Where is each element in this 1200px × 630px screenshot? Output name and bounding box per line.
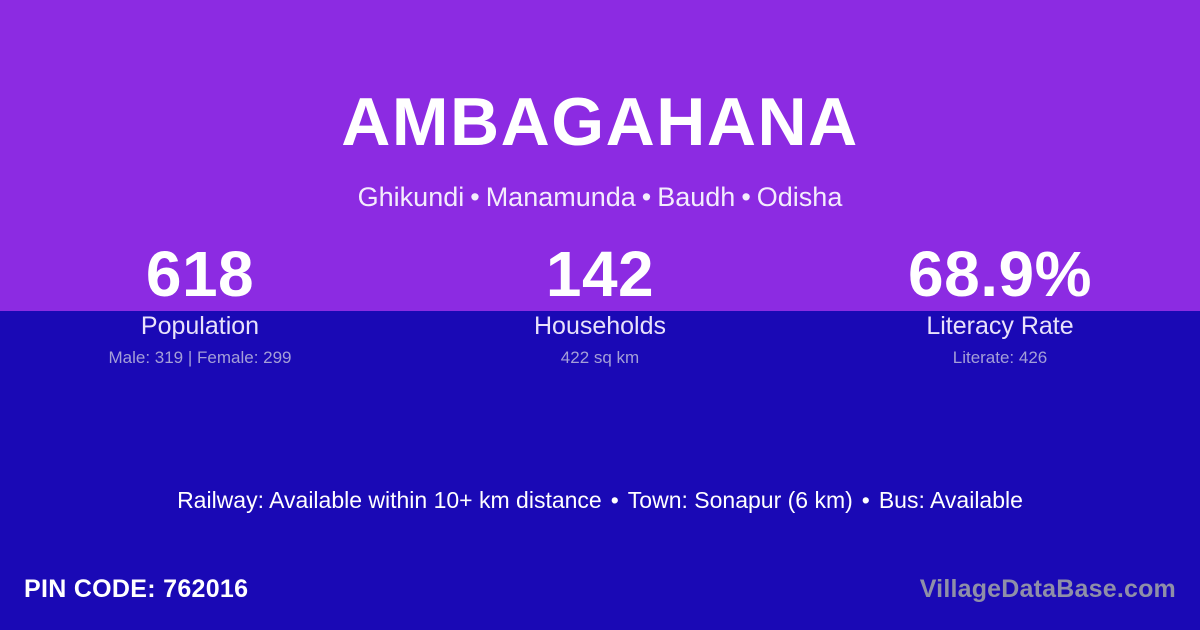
- facility-town: Town: Sonapur (6 km): [628, 487, 853, 513]
- breadcrumb: Ghikundi•Manamunda•Baudh•Odisha: [0, 183, 1200, 213]
- stat-sub-households: 422 sq km: [400, 347, 800, 369]
- page-title: AMBAGAHANA: [0, 88, 1200, 156]
- stat-sub-population: Male: 319 | Female: 299: [0, 347, 400, 369]
- brand-watermark: VillageDataBase.com: [920, 574, 1176, 604]
- stat-value-population: 618: [0, 240, 400, 308]
- breadcrumb-item-state: Odisha: [757, 182, 843, 212]
- village-info-card: AMBAGAHANA Ghikundi•Manamunda•Baudh•Odis…: [0, 0, 1200, 630]
- stat-population: 618 Population Male: 319 | Female: 299: [0, 240, 400, 369]
- stat-label-population: Population: [0, 311, 400, 341]
- breadcrumb-separator-icon: •: [735, 182, 756, 212]
- facility-separator-icon: •: [602, 487, 628, 513]
- facilities-line: Railway: Available within 10+ km distanc…: [0, 484, 1200, 516]
- pin-code-label: PIN CODE: 762016: [24, 574, 248, 604]
- breadcrumb-separator-icon: •: [636, 182, 657, 212]
- breadcrumb-item-village: Ghikundi: [358, 182, 465, 212]
- breadcrumb-item-district: Baudh: [657, 182, 735, 212]
- stat-value-households: 142: [400, 240, 800, 308]
- facility-railway: Railway: Available within 10+ km distanc…: [177, 487, 602, 513]
- stats-row: 618 Population Male: 319 | Female: 299 1…: [0, 240, 1200, 369]
- breadcrumb-item-block: Manamunda: [486, 182, 636, 212]
- stat-label-literacy-rate: Literacy Rate: [800, 311, 1200, 341]
- stat-households: 142 Households 422 sq km: [400, 240, 800, 369]
- stat-literacy-rate: 68.9% Literacy Rate Literate: 426: [800, 240, 1200, 369]
- stat-label-households: Households: [400, 311, 800, 341]
- breadcrumb-separator-icon: •: [464, 182, 485, 212]
- facility-bus: Bus: Available: [879, 487, 1023, 513]
- footer: PIN CODE: 762016 VillageDataBase.com: [0, 560, 1200, 630]
- stat-value-literacy-rate: 68.9%: [800, 240, 1200, 308]
- facility-separator-icon: •: [853, 487, 879, 513]
- stat-sub-literacy-rate: Literate: 426: [800, 347, 1200, 369]
